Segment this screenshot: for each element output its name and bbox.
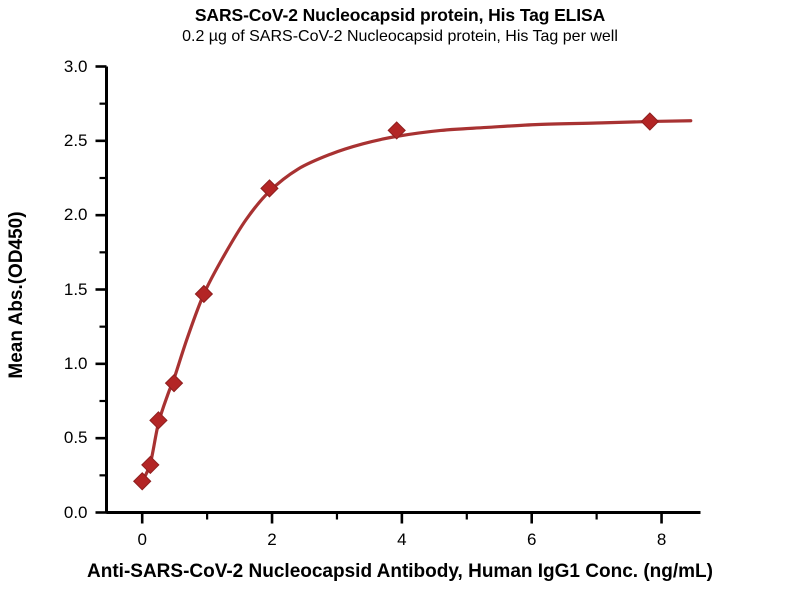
x-tick-label: 4 bbox=[382, 531, 422, 548]
y-tick-label: 2.0 bbox=[42, 206, 88, 223]
y-axis-ticks bbox=[96, 67, 107, 513]
x-tick-label: 2 bbox=[252, 531, 292, 548]
y-tick-label: 2.5 bbox=[42, 132, 88, 149]
data-point-marker bbox=[150, 412, 167, 429]
y-tick-label: 0.5 bbox=[42, 429, 88, 446]
x-tick-label: 6 bbox=[512, 531, 552, 548]
y-tick-label: 0.0 bbox=[42, 504, 88, 521]
data-point-marker bbox=[142, 456, 159, 473]
y-tick-label: 1.0 bbox=[42, 355, 88, 372]
fit-curve-path bbox=[142, 121, 691, 482]
x-tick-label: 8 bbox=[642, 531, 682, 548]
y-tick-label: 3.0 bbox=[42, 58, 88, 75]
plot-canvas bbox=[0, 0, 800, 600]
data-point-marker bbox=[166, 375, 183, 392]
fit-curve bbox=[142, 121, 691, 482]
data-point-marker bbox=[641, 113, 658, 130]
elisa-chart-figure: SARS-CoV-2 Nucleocapsid protein, His Tag… bbox=[0, 0, 800, 600]
data-point-marker bbox=[134, 473, 151, 490]
x-tick-label: 0 bbox=[122, 531, 162, 548]
axis-spines bbox=[107, 67, 701, 513]
x-axis-ticks bbox=[142, 513, 661, 524]
y-tick-label: 1.5 bbox=[42, 281, 88, 298]
data-point-marker bbox=[261, 180, 278, 197]
data-point-markers bbox=[134, 113, 659, 490]
data-point-marker bbox=[195, 285, 212, 302]
